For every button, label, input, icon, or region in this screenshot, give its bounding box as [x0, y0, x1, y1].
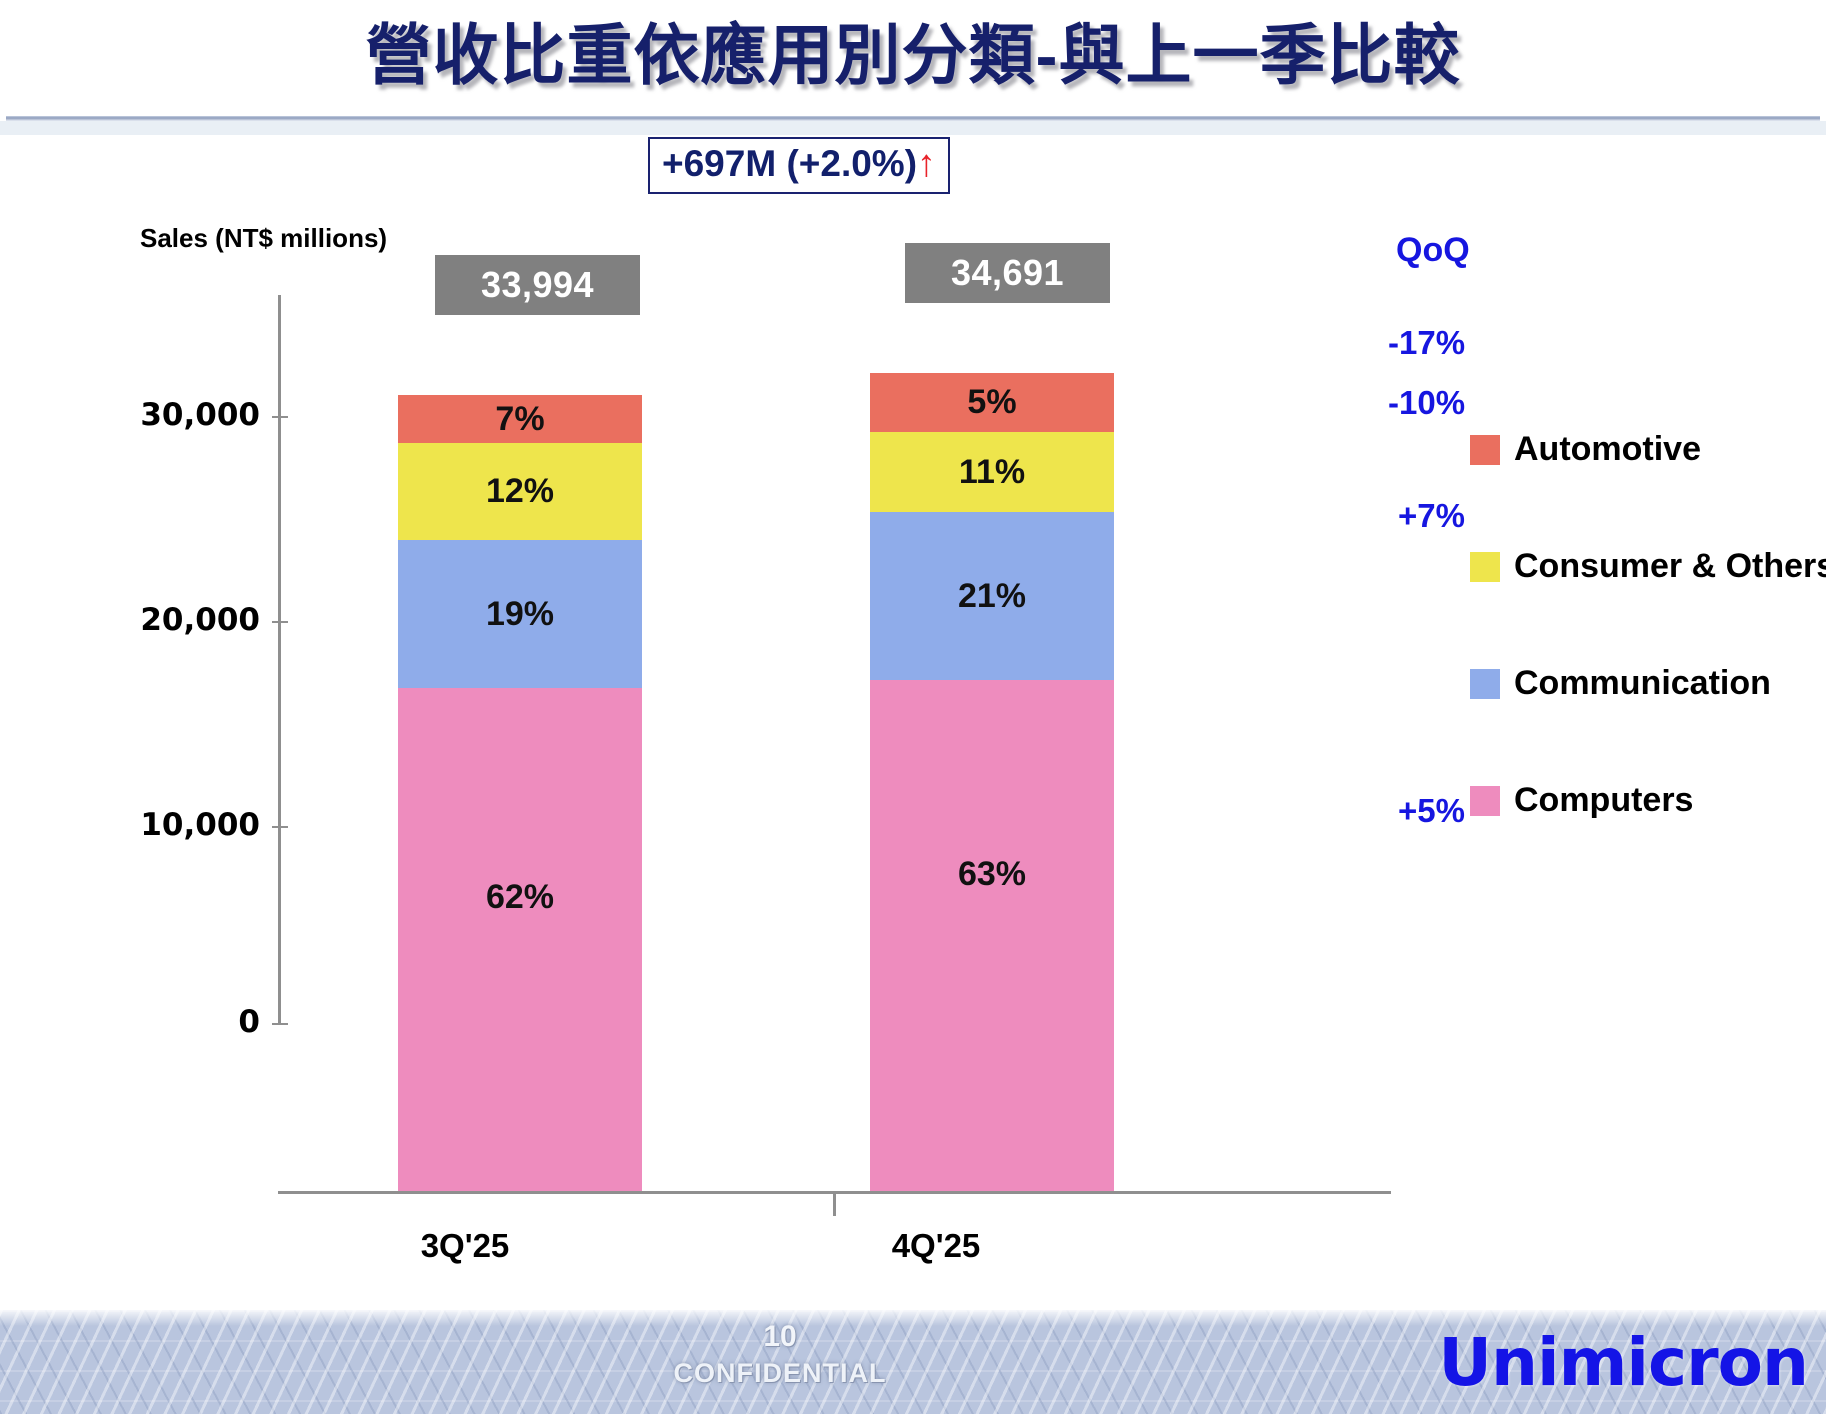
bar-segment-automotive: 7% [398, 395, 642, 443]
title-underline-band [0, 121, 1826, 135]
y-axis-label: 20,000 [60, 602, 260, 638]
segment-label: 7% [495, 400, 544, 439]
total-label-box-4q25: 34,691 [905, 243, 1110, 303]
page-number: 10 [0, 1320, 1560, 1354]
segment-label: 19% [486, 595, 554, 634]
qoq-value-communication: +7% [1398, 497, 1518, 535]
delta-badge-text: +697M (+2.0%) [662, 143, 917, 184]
qoq-value-automotive: -17% [1388, 324, 1508, 362]
bar-3q25: 7% 12% 19% 62% [398, 395, 642, 1191]
segment-label: 62% [486, 878, 554, 917]
y-axis-tick [272, 1023, 288, 1025]
legend-label: Communication [1514, 664, 1771, 703]
total-label-box-3q25: 33,994 [435, 255, 640, 315]
y-axis-label: 30,000 [60, 397, 260, 433]
unimicron-logo: Unimicron [1438, 1324, 1808, 1401]
segment-label: 63% [958, 855, 1026, 894]
qoq-column-header: QoQ [1396, 231, 1470, 270]
status-badge: +697M (+2.0%)↑ [648, 137, 950, 194]
legend-label: Automotive [1514, 430, 1701, 469]
slide-footer: 10 CONFIDENTIAL Unimicron [0, 1310, 1826, 1414]
bar-segment-consumer-others: 12% [398, 443, 642, 540]
bar-segment-automotive: 5% [870, 373, 1114, 432]
y-axis-tick [272, 826, 288, 828]
y-axis-title: Sales (NT$ millions) [140, 223, 387, 254]
x-axis-label-4q25: 4Q'25 [806, 1227, 1066, 1265]
legend-swatch-computers [1470, 786, 1500, 816]
up-arrow-icon: ↑ [917, 143, 936, 185]
y-axis-tick [272, 621, 288, 623]
legend-item-consumer-others[interactable]: Consumer & Others [1470, 547, 1826, 586]
x-axis-tick [833, 1194, 836, 1216]
segment-label: 21% [958, 577, 1026, 616]
x-axis-label-3q25: 3Q'25 [335, 1227, 595, 1265]
y-axis-label: 0 [60, 1004, 260, 1040]
legend-label: Consumer & Others [1514, 547, 1826, 586]
y-axis-line [278, 295, 281, 1024]
total-value: 34,691 [951, 252, 1064, 294]
stacked-bar-chart: Sales (NT$ millions) 30,000 20,000 10,00… [0, 195, 1826, 1295]
qoq-value-consumer-others: -10% [1388, 384, 1508, 422]
bar-segment-consumer-others: 11% [870, 432, 1114, 512]
bar-segment-computers: 63% [870, 680, 1114, 1191]
segment-label: 5% [967, 383, 1016, 422]
bar-segment-communication: 19% [398, 540, 642, 688]
bar-4q25: 5% 11% 21% 63% [870, 373, 1114, 1191]
segment-label: 11% [959, 453, 1025, 492]
bar-segment-computers: 62% [398, 688, 642, 1191]
legend-swatch-automotive [1470, 435, 1500, 465]
legend-item-computers[interactable]: Computers [1470, 781, 1693, 820]
slide-header: 營收比重依應用別分類-與上一季比較 [0, 0, 1826, 118]
legend-label: Computers [1514, 781, 1693, 820]
title-divider [6, 116, 1820, 121]
confidential-notice: CONFIDENTIAL [0, 1358, 1560, 1389]
legend-swatch-consumer-others [1470, 552, 1500, 582]
y-axis-label: 10,000 [60, 807, 260, 843]
legend-item-automotive[interactable]: Automotive [1470, 430, 1701, 469]
bar-segment-communication: 21% [870, 512, 1114, 680]
total-value: 33,994 [481, 264, 594, 306]
segment-label: 12% [486, 472, 554, 511]
y-axis-tick [272, 416, 288, 418]
page-title: 營收比重依應用別分類-與上一季比較 [0, 2, 1826, 98]
legend-swatch-communication [1470, 669, 1500, 699]
legend-item-communication[interactable]: Communication [1470, 664, 1771, 703]
